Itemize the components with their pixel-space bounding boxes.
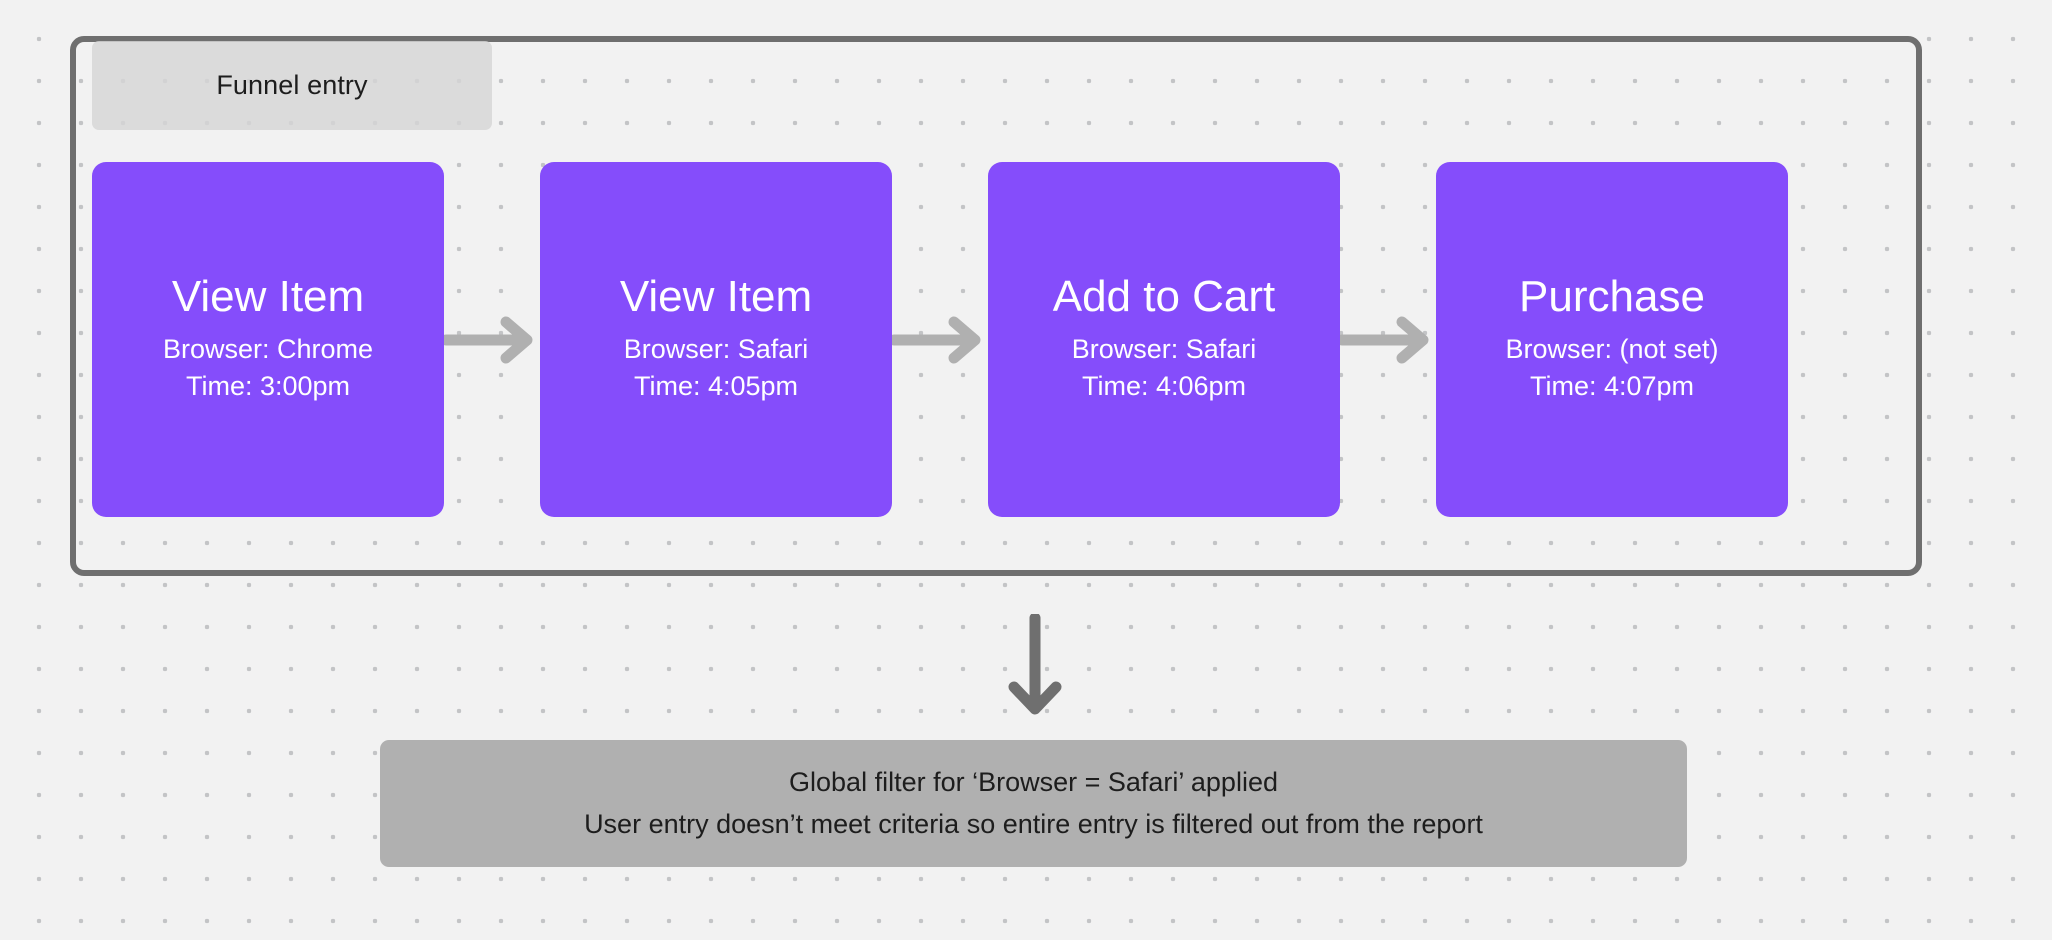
- arrow-right-icon: [444, 316, 540, 364]
- funnel-step-card-4[interactable]: Purchase Browser: (not set) Time: 4:07pm: [1436, 162, 1788, 517]
- funnel-entry-label-text: Funnel entry: [216, 70, 367, 101]
- step-arrow-3: [1340, 310, 1436, 370]
- step-browser: Browser: (not set): [1505, 331, 1718, 368]
- arrow-right-icon: [892, 316, 988, 364]
- step-time: Time: 4:05pm: [634, 368, 798, 405]
- step-browser: Browser: Chrome: [163, 331, 373, 368]
- arrow-right-icon: [1340, 316, 1436, 364]
- funnel-step-card-1[interactable]: View Item Browser: Chrome Time: 3:00pm: [92, 162, 444, 517]
- diagram-canvas: Funnel entry View Item Browser: Chrome T…: [0, 0, 2052, 940]
- filter-note-box: Global filter for ‘Browser = Safari’ app…: [380, 740, 1687, 867]
- funnel-step-card-3[interactable]: Add to Cart Browser: Safari Time: 4:06pm: [988, 162, 1340, 517]
- arrow-down-icon: [1005, 614, 1065, 724]
- step-time: Time: 4:06pm: [1082, 368, 1246, 405]
- step-title: View Item: [172, 273, 364, 321]
- filter-note-line-1: Global filter for ‘Browser = Safari’ app…: [789, 762, 1278, 803]
- step-time: Time: 4:07pm: [1530, 368, 1694, 405]
- step-title: View Item: [620, 273, 812, 321]
- step-title: Add to Cart: [1053, 273, 1276, 321]
- step-browser: Browser: Safari: [1072, 331, 1257, 368]
- step-title: Purchase: [1519, 273, 1705, 321]
- funnel-entry-label: Funnel entry: [92, 41, 492, 130]
- step-browser: Browser: Safari: [624, 331, 809, 368]
- funnel-steps-row: View Item Browser: Chrome Time: 3:00pm V…: [92, 162, 1764, 517]
- funnel-step-card-2[interactable]: View Item Browser: Safari Time: 4:05pm: [540, 162, 892, 517]
- flow-arrow-down: [1005, 614, 1065, 724]
- step-arrow-2: [892, 310, 988, 370]
- step-arrow-1: [444, 310, 540, 370]
- filter-note-line-2: User entry doesn’t meet criteria so enti…: [584, 804, 1483, 845]
- step-time: Time: 3:00pm: [186, 368, 350, 405]
